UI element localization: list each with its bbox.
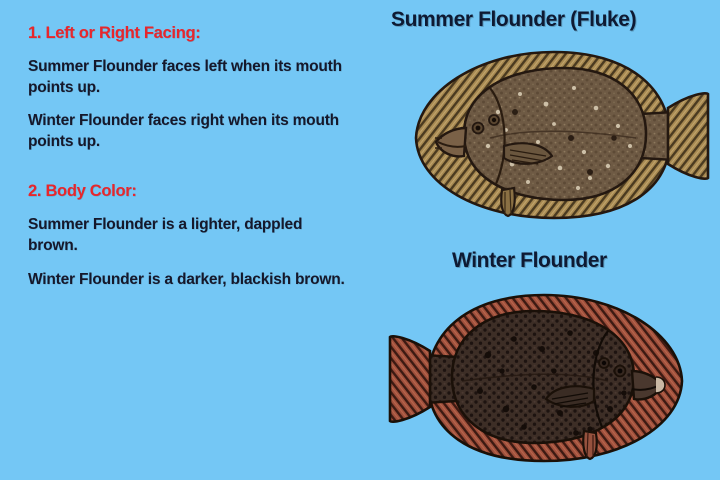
winter-pelvic-fin — [583, 431, 597, 459]
fact-summer-facing: Summer Flounder faces left when its mout… — [28, 57, 348, 98]
section-heading-body-color: 2. Body Color: — [28, 182, 348, 201]
infographic-canvas: 1. Left or Right Facing: Summer Flounder… — [0, 0, 720, 480]
winter-tail-fin — [390, 336, 430, 421]
fact-summer-color: Summer Flounder is a lighter, dappled br… — [28, 215, 348, 256]
winter-flounder-illustration — [384, 283, 720, 469]
summer-tail-fin — [668, 93, 708, 178]
winter-body — [452, 311, 634, 443]
comparison-text-column: 1. Left or Right Facing: Summer Flounder… — [28, 24, 348, 290]
fact-winter-color: Winter Flounder is a darker, blackish br… — [28, 270, 348, 291]
winter-eye-lower — [599, 358, 609, 368]
summer-flounder-title: Summer Flounder (Fluke) — [391, 8, 636, 32]
fact-winter-facing: Winter Flounder faces right when its mou… — [28, 111, 348, 152]
summer-pelvic-fin — [501, 188, 515, 216]
winter-flounder-title: Winter Flounder — [452, 249, 607, 273]
winter-lip — [656, 377, 665, 393]
summer-eye-upper — [473, 123, 484, 134]
summer-eye-lower — [489, 115, 499, 125]
section-heading-facing: 1. Left or Right Facing: — [28, 24, 348, 43]
winter-eye-upper — [615, 366, 626, 377]
summer-flounder-illustration — [378, 42, 714, 224]
